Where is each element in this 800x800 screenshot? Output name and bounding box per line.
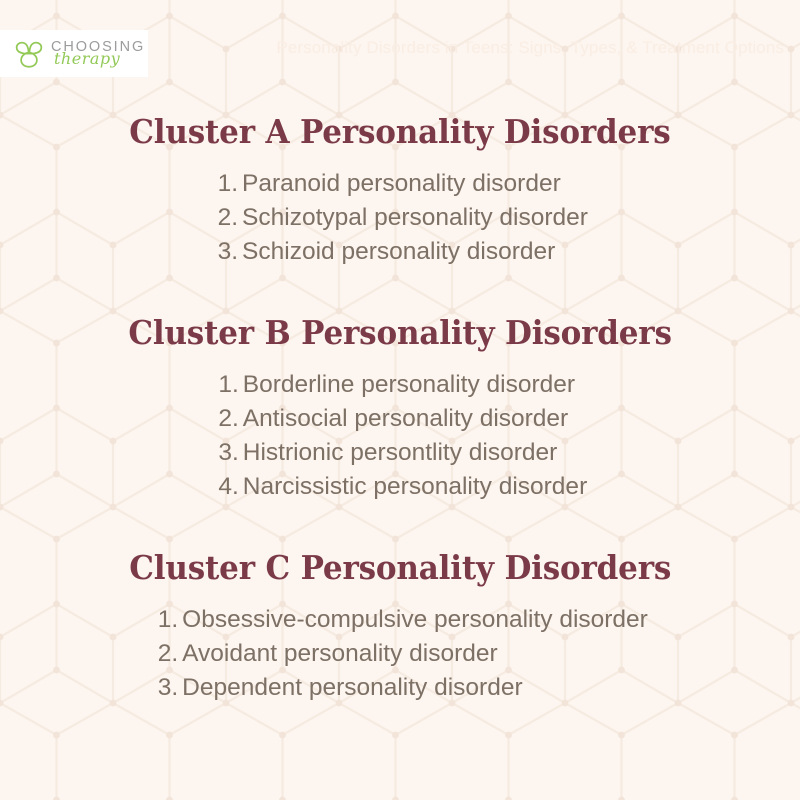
list-item-label: Schizoid personality disorder (242, 235, 555, 269)
list-item: 2. Schizotypal personality disorder (212, 201, 588, 235)
cluster-a-heading: Cluster A Personality Disorders (129, 112, 670, 151)
clusters-content: Cluster A Personality Disorders 1. Paran… (0, 112, 800, 705)
cluster-c-list: 1. Obsessive-compulsive personality diso… (152, 603, 648, 705)
list-item: 3. Schizoid personality disorder (212, 235, 588, 269)
list-item-number: 3. (213, 436, 243, 470)
logo-word-therapy: therapy (54, 51, 145, 67)
section-cluster-c: Cluster C Personality Disorders 1. Obses… (0, 548, 800, 705)
page-header-title: Personality Disorders in Teens: Signs, T… (276, 38, 784, 58)
list-item: 1. Borderline personality disorder (213, 368, 587, 402)
section-cluster-a: Cluster A Personality Disorders 1. Paran… (0, 112, 800, 269)
list-item-number: 2. (213, 402, 243, 436)
list-item: 2. Avoidant personality disorder (152, 637, 648, 671)
list-item-number: 3. (212, 235, 242, 269)
list-item-number: 2. (212, 201, 242, 235)
list-item: 4. Narcissistic personality disorder (213, 470, 587, 504)
list-item-label: Histrionic persontlity disorder (243, 436, 558, 470)
cluster-a-list: 1. Paranoid personality disorder 2. Schi… (212, 167, 588, 269)
list-item-number: 3. (152, 671, 182, 705)
list-item: 3. Dependent personality disorder (152, 671, 648, 705)
brand-logo-badge[interactable]: CHOOSING therapy (0, 30, 148, 77)
section-cluster-b: Cluster B Personality Disorders 1. Borde… (0, 313, 800, 504)
list-item-number: 1. (212, 167, 242, 201)
list-item-label: Schizotypal personality disorder (242, 201, 588, 235)
list-item: 1. Obsessive-compulsive personality diso… (152, 603, 648, 637)
list-item-label: Narcissistic personality disorder (243, 470, 587, 504)
list-item-label: Borderline personality disorder (243, 368, 575, 402)
list-item-number: 1. (213, 368, 243, 402)
list-item: 3. Histrionic persontlity disorder (213, 436, 587, 470)
cluster-b-heading: Cluster B Personality Disorders (128, 313, 671, 352)
cluster-c-heading: Cluster C Personality Disorders (129, 548, 671, 587)
list-item-label: Antisocial personality disorder (243, 402, 568, 436)
list-item-label: Dependent personality disorder (182, 671, 523, 705)
list-item-label: Paranoid personality disorder (242, 167, 561, 201)
three-petal-leaf-icon (14, 40, 44, 68)
list-item-number: 2. (152, 637, 182, 671)
infographic-canvas: CHOOSING therapy Personality Disorders i… (0, 0, 800, 800)
list-item: 2. Antisocial personality disorder (213, 402, 587, 436)
list-item-label: Avoidant personality disorder (182, 637, 498, 671)
cluster-b-list: 1. Borderline personality disorder 2. An… (213, 368, 587, 504)
list-item-number: 1. (152, 603, 182, 637)
list-item-label: Obsessive-compulsive personality disorde… (182, 603, 648, 637)
list-item-number: 4. (213, 470, 243, 504)
list-item: 1. Paranoid personality disorder (212, 167, 588, 201)
